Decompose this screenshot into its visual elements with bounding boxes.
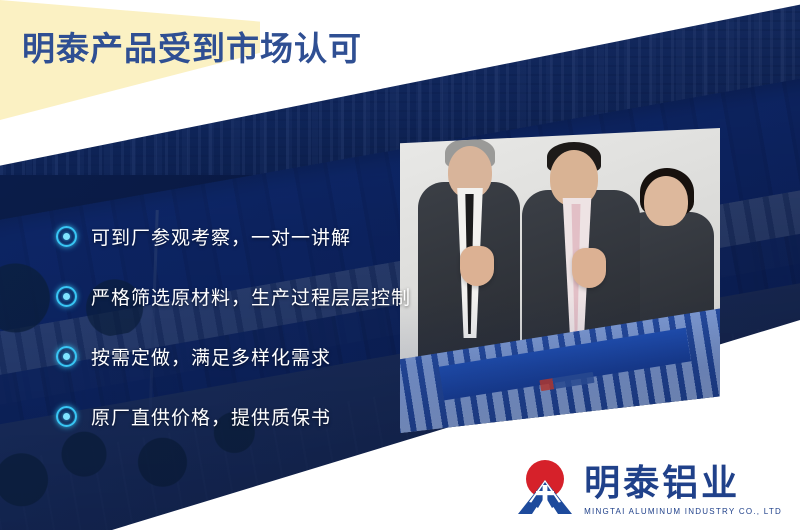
feature-label: 严格筛选原材料，生产过程层层控制: [91, 283, 411, 310]
logo-english-name: MINGTAI ALUMINUM INDUSTRY CO., LTD: [584, 507, 782, 516]
logo-wordmark: 明泰铝业 MINGTAI ALUMINUM INDUSTRY CO., LTD: [584, 466, 782, 516]
list-item: 严格筛选原材料，生产过程层层控制: [56, 266, 411, 326]
feature-label: 按需定做，满足多样化需求: [91, 343, 331, 370]
target-circle-icon: [56, 286, 77, 307]
mingtai-sun-mountain-logo-icon: [514, 458, 576, 516]
feature-list: 可到厂参观考察，一对一讲解 严格筛选原材料，生产过程层层控制 按需定做，满足多样…: [56, 206, 411, 446]
list-item: 原厂直供价格，提供质保书: [56, 386, 411, 446]
promo-banner: 明泰产品受到市场认可 可到厂参观考察，一对一讲解 严格筛选原材料，生产过程层层控…: [0, 0, 800, 530]
feature-label: 原厂直供价格，提供质保书: [91, 403, 331, 430]
page-title: 明泰产品受到市场认可: [22, 22, 362, 70]
logo-chinese-name: 明泰铝业: [584, 466, 740, 502]
photo-shading-overlay: [400, 128, 720, 433]
target-circle-icon: [56, 346, 77, 367]
list-item: 按需定做，满足多样化需求: [56, 326, 411, 386]
target-circle-icon: [56, 406, 77, 427]
company-logo: 明泰铝业 MINGTAI ALUMINUM INDUSTRY CO., LTD: [514, 458, 782, 516]
target-circle-icon: [56, 226, 77, 247]
business-people-photo: [400, 128, 720, 433]
list-item: 可到厂参观考察，一对一讲解: [56, 206, 411, 266]
feature-label: 可到厂参观考察，一对一讲解: [91, 223, 351, 250]
